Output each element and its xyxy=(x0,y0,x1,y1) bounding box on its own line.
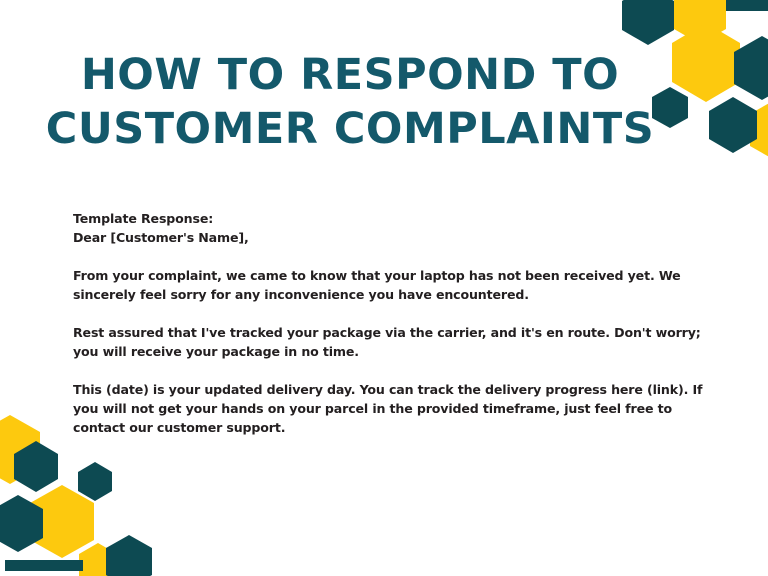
hexagon-teal-bottom-left-3 xyxy=(0,495,43,552)
bottom-left-bar xyxy=(5,560,83,571)
slide-canvas: HOW TO RESPOND TO CUSTOMER COMPLAINTS Te… xyxy=(0,0,768,576)
hexagon-yellow-top-right-1 xyxy=(674,0,726,44)
salutation-line: Dear [Customer's Name], xyxy=(73,228,709,247)
body-paragraph-1: From your complaint, we came to know tha… xyxy=(73,266,709,304)
hexagon-teal-top-right-4 xyxy=(709,97,757,153)
hexagon-teal-bottom-left-4 xyxy=(106,535,152,576)
body-paragraph-2: Rest assured that I've tracked your pack… xyxy=(73,323,709,361)
hexagon-teal-bottom-left-1 xyxy=(14,441,58,492)
top-right-bar xyxy=(692,0,768,11)
body-content: Template Response: Dear [Customer's Name… xyxy=(73,209,709,437)
hexagon-yellow-bottom-left-3 xyxy=(79,543,117,576)
hexagon-yellow-bottom-left-2 xyxy=(30,485,94,558)
slide-title: HOW TO RESPOND TO CUSTOMER COMPLAINTS xyxy=(0,48,700,156)
hexagon-teal-top-right-1 xyxy=(622,0,674,45)
body-paragraph-3: This (date) is your updated delivery day… xyxy=(73,380,709,437)
template-response-label: Template Response: xyxy=(73,209,709,228)
hexagon-teal-top-right-2 xyxy=(734,36,768,100)
hexagon-yellow-top-right-3 xyxy=(750,98,768,162)
hexagon-teal-bottom-left-2 xyxy=(78,462,112,501)
title-line-1: HOW TO RESPOND TO xyxy=(0,48,700,102)
hexagon-yellow-bottom-left-1 xyxy=(0,415,40,484)
title-line-2: CUSTOMER COMPLAINTS xyxy=(0,102,700,156)
